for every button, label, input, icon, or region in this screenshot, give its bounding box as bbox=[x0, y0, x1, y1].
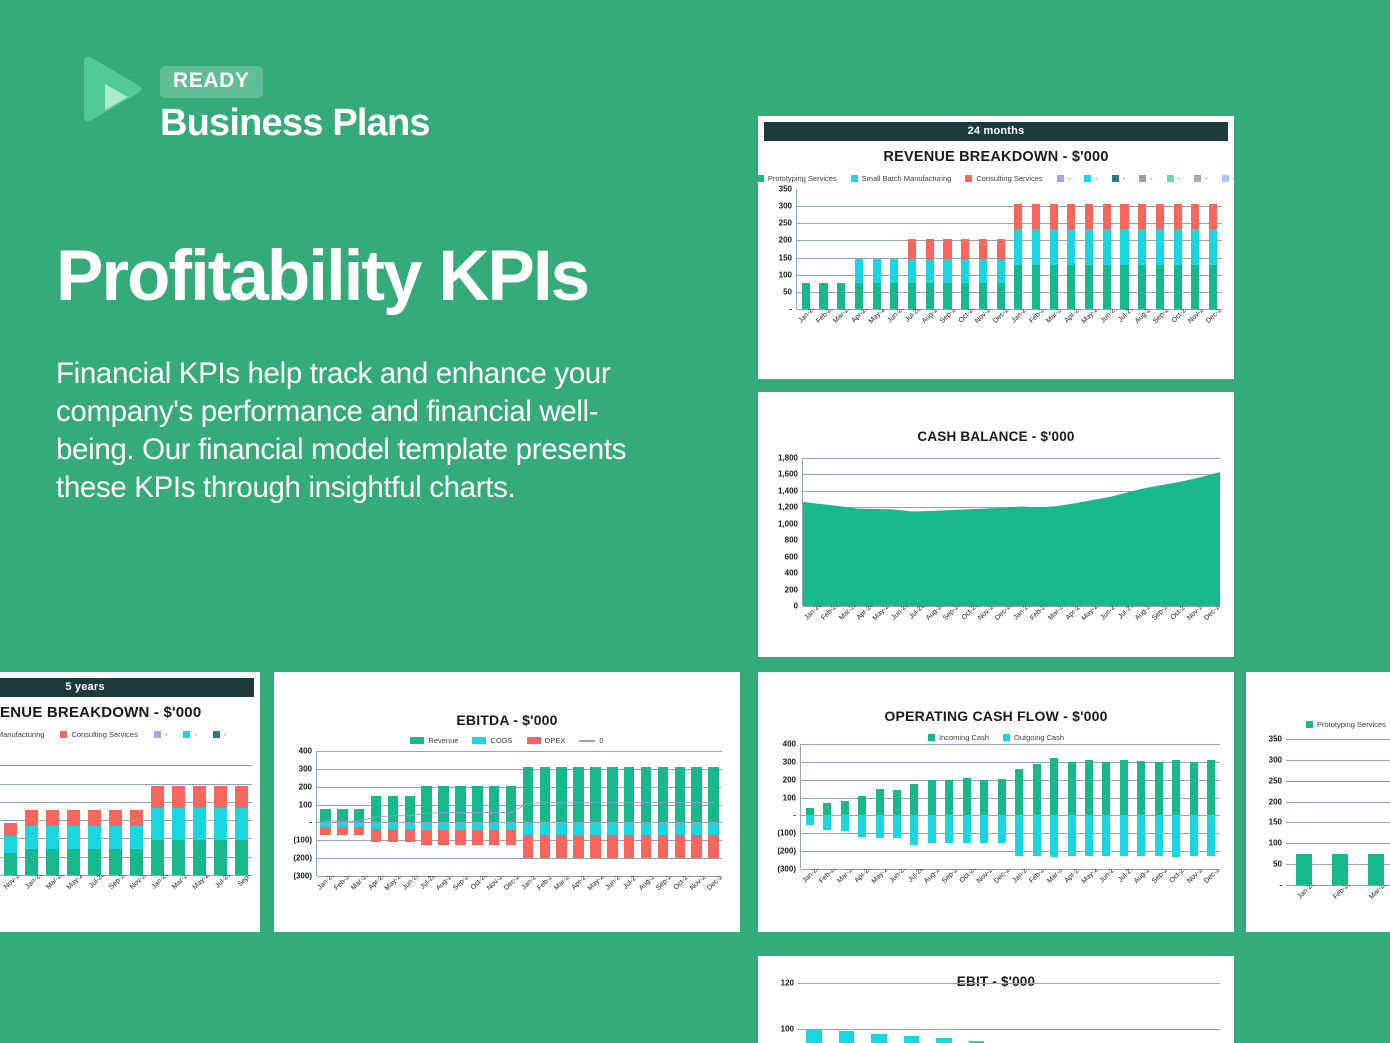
legend-item[interactable]: Small Batch Manufacturing bbox=[851, 174, 952, 183]
bar-segment bbox=[819, 283, 827, 309]
x-tick-slot: Mar-26 bbox=[837, 606, 854, 657]
bar-segment bbox=[963, 815, 971, 843]
bar-slot[interactable] bbox=[1188, 983, 1220, 1043]
x-tick-slot: Mar-26 bbox=[832, 309, 850, 361]
bar[interactable] bbox=[109, 747, 121, 875]
x-tick-slot: Mar-26 bbox=[350, 876, 367, 928]
bar[interactable] bbox=[890, 189, 898, 309]
bar-slot[interactable] bbox=[1116, 189, 1134, 309]
bar-slot[interactable] bbox=[1063, 744, 1080, 869]
legend-item[interactable]: - bbox=[1112, 174, 1126, 183]
bar-slot[interactable] bbox=[836, 744, 853, 869]
bar[interactable] bbox=[1196, 983, 1212, 1043]
page-title: Profitability KPIs bbox=[56, 240, 588, 315]
bar-slot[interactable] bbox=[1058, 983, 1090, 1043]
bar-segment bbox=[109, 810, 121, 826]
bar[interactable] bbox=[25, 747, 37, 875]
bar-segment bbox=[873, 283, 881, 309]
legend-item[interactable]: Consulting Services bbox=[965, 174, 1042, 183]
legend-item[interactable]: Consulting Services bbox=[60, 730, 137, 739]
bar[interactable] bbox=[841, 744, 849, 869]
x-tick-slot: Jan-26 bbox=[1286, 885, 1322, 932]
bar-slot[interactable] bbox=[1090, 983, 1122, 1043]
bar-slot[interactable] bbox=[993, 744, 1010, 869]
bar-slot[interactable] bbox=[1123, 983, 1155, 1043]
bar-slot[interactable] bbox=[1133, 189, 1151, 309]
bar[interactable] bbox=[1102, 744, 1110, 869]
y-tick-label: 100 bbox=[299, 800, 312, 809]
legend-item[interactable]: - bbox=[1194, 174, 1208, 183]
bar[interactable] bbox=[214, 747, 226, 875]
x-tick-slot: Oct-26 bbox=[959, 606, 976, 657]
x-tick-slot: May-28 bbox=[63, 875, 84, 927]
card-revenue-breakdown-5y: 5 years REVENUE BREAKDOWN - $'000 Small … bbox=[0, 672, 260, 932]
bar-slot[interactable] bbox=[1204, 189, 1222, 309]
play-triangle-logo bbox=[74, 52, 146, 126]
x-tick-slot: Apr-26 bbox=[849, 309, 867, 361]
bar[interactable] bbox=[1120, 744, 1128, 869]
bar[interactable] bbox=[1137, 744, 1145, 869]
y-tick-label: 250 bbox=[1269, 776, 1282, 785]
legend-item[interactable]: Outgoing Cash bbox=[1003, 733, 1064, 742]
plot-cash-balance bbox=[802, 458, 1220, 606]
bar[interactable] bbox=[969, 983, 985, 1043]
bar[interactable] bbox=[1296, 739, 1311, 885]
bar-slot[interactable] bbox=[1080, 189, 1098, 309]
legend-item[interactable]: - bbox=[1139, 174, 1153, 183]
bar-slot[interactable] bbox=[1169, 189, 1187, 309]
x-tick-slot: Jun-27 bbox=[1098, 309, 1116, 361]
x-tick-slot: Dec-27 bbox=[705, 876, 722, 928]
bar[interactable] bbox=[1155, 744, 1163, 869]
x-tick-slot: Apr-27 bbox=[1063, 869, 1081, 921]
x-tick-slot: Sep-27 bbox=[1150, 869, 1168, 921]
legend-color-swatch bbox=[1084, 175, 1091, 182]
bar[interactable] bbox=[172, 747, 184, 875]
bar-slot[interactable] bbox=[1098, 189, 1116, 309]
bar-segment bbox=[1137, 761, 1145, 815]
bar[interactable] bbox=[893, 744, 901, 869]
legend-label: OPEX bbox=[545, 736, 566, 745]
bar[interactable] bbox=[873, 189, 881, 309]
bar-segment bbox=[1172, 815, 1180, 856]
bar-slot[interactable] bbox=[1045, 744, 1062, 869]
bar-segment bbox=[130, 826, 142, 849]
bar-segment bbox=[1209, 204, 1217, 229]
bar-slot[interactable] bbox=[21, 747, 42, 875]
bar[interactable] bbox=[1332, 739, 1347, 885]
bar-segment bbox=[998, 815, 1006, 843]
bar-segment bbox=[904, 1036, 920, 1043]
x-tick-slot: May-26 bbox=[384, 876, 401, 928]
x-axis-operating-cash-flow: Jan-26Feb-26Mar-26Apr-26May-26Jun-26Jul-… bbox=[800, 869, 1220, 921]
y-axis-cash-balance: 02004006008001,0001,2001,4001,6001,800 bbox=[758, 458, 802, 606]
legend-color-swatch bbox=[928, 734, 935, 741]
bar[interactable] bbox=[1050, 189, 1058, 309]
bar[interactable] bbox=[945, 744, 953, 869]
bar-slot[interactable] bbox=[1358, 739, 1390, 885]
bar[interactable] bbox=[1190, 744, 1198, 869]
bar[interactable] bbox=[802, 189, 810, 309]
bar-slot[interactable] bbox=[974, 189, 992, 309]
bar-segment bbox=[1120, 204, 1128, 229]
bar-slot[interactable] bbox=[895, 983, 927, 1043]
legend-item[interactable]: - bbox=[1084, 174, 1098, 183]
bar-segment bbox=[945, 815, 953, 843]
bar[interactable] bbox=[1172, 744, 1180, 869]
bar-slot[interactable] bbox=[231, 747, 252, 875]
bar-segment bbox=[1138, 229, 1146, 265]
bar[interactable] bbox=[904, 983, 920, 1043]
bar-slot[interactable] bbox=[941, 744, 958, 869]
bar-slot[interactable] bbox=[42, 747, 63, 875]
bar[interactable] bbox=[235, 747, 247, 875]
legend-item[interactable]: - bbox=[213, 730, 227, 739]
bar-segment bbox=[235, 840, 247, 875]
bar-slot[interactable] bbox=[906, 744, 923, 869]
bar-segment bbox=[1015, 769, 1023, 815]
legend-item[interactable]: Revenue bbox=[410, 736, 458, 745]
bar-slot[interactable] bbox=[871, 744, 888, 869]
bar-segment bbox=[172, 786, 184, 808]
legend-item[interactable]: - bbox=[1167, 174, 1181, 183]
legend-item[interactable]: - bbox=[154, 730, 168, 739]
bar-slot[interactable] bbox=[818, 744, 835, 869]
bar[interactable] bbox=[1138, 189, 1146, 309]
y-tick-label: (100) bbox=[777, 829, 796, 838]
x-tick-label: Jan-29 bbox=[150, 875, 170, 891]
bar-segment bbox=[1209, 265, 1217, 309]
bar[interactable] bbox=[936, 983, 952, 1043]
bar-slot[interactable] bbox=[939, 189, 957, 309]
bar[interactable] bbox=[1001, 983, 1017, 1043]
x-tick-slot: Dec-27 bbox=[1204, 309, 1222, 361]
bar-slot[interactable] bbox=[992, 189, 1010, 309]
x-tick-slot: Sep-26 bbox=[941, 606, 958, 657]
bar-segment bbox=[1103, 229, 1111, 265]
bar-slot[interactable] bbox=[1009, 189, 1027, 309]
bar[interactable] bbox=[1368, 739, 1383, 885]
x-tick-slot: Jun-26 bbox=[888, 869, 906, 921]
page-description: Financial KPIs help track and enhance yo… bbox=[56, 355, 656, 507]
legend-item[interactable]: - bbox=[183, 730, 197, 739]
x-tick-slot: Jan-27 bbox=[1010, 869, 1028, 921]
bar[interactable] bbox=[1085, 744, 1093, 869]
bar-slot[interactable] bbox=[976, 744, 993, 869]
bar-slot[interactable] bbox=[993, 983, 1025, 1043]
bar[interactable] bbox=[928, 744, 936, 869]
bar[interactable] bbox=[963, 744, 971, 869]
bar-slot[interactable] bbox=[126, 747, 147, 875]
bar[interactable] bbox=[998, 744, 1006, 869]
bar-slot[interactable] bbox=[1322, 739, 1358, 885]
bar[interactable] bbox=[193, 747, 205, 875]
bar-segment bbox=[1207, 760, 1215, 815]
bar-slot[interactable] bbox=[956, 189, 974, 309]
bar-segment bbox=[4, 836, 16, 854]
x-tick-slot: Oct-26 bbox=[958, 869, 976, 921]
legend-item[interactable]: OPEX bbox=[527, 736, 566, 745]
bar[interactable] bbox=[1207, 744, 1215, 869]
bar[interactable] bbox=[1050, 744, 1058, 869]
x-tick-slot: Apr-26 bbox=[853, 869, 871, 921]
bar-segment bbox=[873, 259, 881, 283]
x-tick-slot: Dec-26 bbox=[502, 876, 519, 928]
bar-segment bbox=[1103, 265, 1111, 309]
y-tick-label: 400 bbox=[299, 747, 312, 756]
bar[interactable] bbox=[910, 744, 918, 869]
y-tick-label: 200 bbox=[299, 782, 312, 791]
x-tick-slot: Sep-27 bbox=[654, 876, 671, 928]
bar-slot[interactable] bbox=[1115, 744, 1132, 869]
bar[interactable] bbox=[979, 189, 987, 309]
bar-slot[interactable] bbox=[1025, 983, 1057, 1043]
bar-slot[interactable] bbox=[815, 189, 833, 309]
card-revenue-breakdown-24m: 24 months REVENUE BREAKDOWN - $'000 Prot… bbox=[758, 116, 1234, 379]
bar-slot[interactable] bbox=[903, 189, 921, 309]
bar-slot[interactable] bbox=[1151, 189, 1169, 309]
bar[interactable] bbox=[961, 189, 969, 309]
bar-slot[interactable] bbox=[1027, 189, 1045, 309]
legend-line-marker bbox=[579, 740, 595, 742]
bar-slot[interactable] bbox=[1155, 983, 1187, 1043]
x-tick-slot: Jan-27 bbox=[519, 876, 536, 928]
bar-slot[interactable] bbox=[1063, 189, 1081, 309]
bar[interactable] bbox=[1164, 983, 1180, 1043]
bar-slot[interactable] bbox=[853, 744, 870, 869]
bar[interactable] bbox=[46, 747, 58, 875]
chart-legend-revenue-breakdown-24m: Prototyping ServicesSmall Batch Manufact… bbox=[758, 174, 1234, 183]
x-tick-slot: Feb-27 bbox=[1028, 606, 1045, 657]
bar[interactable] bbox=[1033, 744, 1041, 869]
bar-slot[interactable] bbox=[1080, 744, 1097, 869]
bar-slot[interactable] bbox=[798, 983, 830, 1043]
bar[interactable] bbox=[1068, 744, 1076, 869]
bar-segment bbox=[1050, 758, 1058, 816]
bar[interactable] bbox=[1015, 744, 1023, 869]
bar[interactable] bbox=[1034, 983, 1050, 1043]
x-tick-slot: Feb-26 bbox=[814, 309, 832, 361]
bar-segment bbox=[1296, 854, 1311, 885]
bar-segment bbox=[214, 786, 226, 808]
sheet-label-24-months: 24 months bbox=[764, 122, 1228, 141]
bar-segment bbox=[1050, 265, 1058, 309]
x-tick-slot: Sep-26 bbox=[451, 876, 468, 928]
legend-item[interactable]: - bbox=[1222, 174, 1234, 183]
bar-segment bbox=[943, 283, 951, 309]
bar[interactable] bbox=[837, 189, 845, 309]
bar[interactable] bbox=[980, 744, 988, 869]
bar[interactable] bbox=[908, 189, 916, 309]
bar-slot[interactable] bbox=[63, 747, 84, 875]
x-tick-slot: Feb-27 bbox=[1027, 309, 1045, 361]
legend-item[interactable]: 0 bbox=[579, 736, 603, 745]
bar[interactable] bbox=[823, 744, 831, 869]
legend-item[interactable]: Prototyping Services bbox=[758, 174, 837, 183]
bar-segment bbox=[88, 826, 100, 849]
bar-slot[interactable] bbox=[168, 747, 189, 875]
y-axis-operating-cash-flow: (300)(200)(100)-100200300400 bbox=[758, 744, 800, 869]
x-tick-slot: Jun-27 bbox=[1098, 606, 1115, 657]
bar-segment bbox=[1138, 265, 1146, 309]
x-tick-slot: May-29 bbox=[189, 875, 210, 927]
bar-segment bbox=[151, 786, 163, 808]
bar[interactable] bbox=[130, 747, 142, 875]
bar[interactable] bbox=[88, 747, 100, 875]
bar[interactable] bbox=[1066, 983, 1082, 1043]
bar-slot[interactable] bbox=[84, 747, 105, 875]
bar-slot[interactable] bbox=[958, 744, 975, 869]
legend-item[interactable]: Prototyping Services bbox=[1306, 720, 1386, 729]
bar-slot[interactable] bbox=[850, 189, 868, 309]
bar[interactable] bbox=[1085, 189, 1093, 309]
bar-segment bbox=[1155, 762, 1163, 816]
bar-slot[interactable] bbox=[830, 983, 862, 1043]
bar[interactable] bbox=[806, 744, 814, 869]
bar-segment bbox=[910, 784, 918, 816]
legend-label: COGS bbox=[490, 736, 512, 745]
bar-slot[interactable] bbox=[886, 189, 904, 309]
bar[interactable] bbox=[819, 189, 827, 309]
chart-title-ebitda: EBITDA - $'000 bbox=[274, 712, 740, 728]
legend-item[interactable]: COGS bbox=[472, 736, 512, 745]
bar-slot[interactable] bbox=[1202, 744, 1219, 869]
bar-slot[interactable] bbox=[832, 189, 850, 309]
bar-slot[interactable] bbox=[797, 189, 815, 309]
bar[interactable] bbox=[1174, 189, 1182, 309]
bar-slot[interactable] bbox=[1028, 744, 1045, 869]
bar-slot[interactable] bbox=[1133, 744, 1150, 869]
bar[interactable] bbox=[67, 747, 79, 875]
y-tick-label: 200 bbox=[1269, 797, 1282, 806]
legend-label: - bbox=[1123, 174, 1126, 183]
bar[interactable] bbox=[1103, 189, 1111, 309]
legend-label: - bbox=[1233, 174, 1234, 183]
bar-segment bbox=[67, 810, 79, 826]
bar-segment bbox=[961, 259, 969, 283]
bar[interactable] bbox=[871, 983, 887, 1043]
x-tick-slot: May-26 bbox=[872, 606, 889, 657]
x-tick-slot: Feb-26 bbox=[819, 606, 836, 657]
bar-slot[interactable] bbox=[868, 189, 886, 309]
bar-segment bbox=[1191, 265, 1199, 309]
legend-color-swatch bbox=[1194, 175, 1201, 182]
bar-segment bbox=[926, 259, 934, 283]
chart-legend-revenue-breakdown-5y: Small Batch ManufacturingConsulting Serv… bbox=[0, 730, 260, 739]
bar-slot[interactable] bbox=[921, 189, 939, 309]
bar-segment bbox=[1014, 204, 1022, 229]
bar[interactable] bbox=[839, 983, 855, 1043]
bar[interactable] bbox=[997, 189, 1005, 309]
bar-segment bbox=[109, 849, 121, 875]
legend-item[interactable]: Incoming Cash bbox=[928, 733, 989, 742]
bar-slot[interactable] bbox=[923, 744, 940, 869]
bar-segment bbox=[1085, 815, 1093, 856]
bar-segment bbox=[806, 808, 814, 816]
bar[interactable] bbox=[1191, 189, 1199, 309]
bar[interactable] bbox=[926, 189, 934, 309]
bar[interactable] bbox=[1014, 189, 1022, 309]
bar[interactable] bbox=[1032, 189, 1040, 309]
bar[interactable] bbox=[1131, 983, 1147, 1043]
bar[interactable] bbox=[858, 744, 866, 869]
bar[interactable] bbox=[151, 747, 163, 875]
bar-segment bbox=[1138, 204, 1146, 229]
bar-slot[interactable] bbox=[1150, 744, 1167, 869]
x-tick-slot: Jul-27 bbox=[1115, 869, 1133, 921]
bar-segment bbox=[998, 779, 1006, 816]
bar-segment bbox=[910, 815, 918, 844]
bar-slot[interactable] bbox=[1098, 744, 1115, 869]
bar-segment bbox=[4, 823, 16, 835]
bar[interactable] bbox=[806, 983, 822, 1043]
y-tick-label: 300 bbox=[299, 764, 312, 773]
bar-slot[interactable] bbox=[928, 983, 960, 1043]
bar-slot[interactable] bbox=[1185, 744, 1202, 869]
legend-label: Consulting Services bbox=[71, 730, 137, 739]
x-tick-slot: Oct-27 bbox=[1168, 606, 1185, 657]
bar[interactable] bbox=[1209, 189, 1217, 309]
x-tick-slot: Aug-27 bbox=[1133, 869, 1151, 921]
bar-slot[interactable] bbox=[1010, 744, 1027, 869]
bar-slot[interactable] bbox=[210, 747, 231, 875]
legend-item[interactable]: Small Batch Manufacturing bbox=[0, 730, 44, 739]
bar-slot[interactable] bbox=[1286, 739, 1322, 885]
y-axis-ebit: 80100120 bbox=[758, 983, 798, 1043]
bar-slot[interactable] bbox=[863, 983, 895, 1043]
bar-slot[interactable] bbox=[960, 983, 992, 1043]
bar-segment bbox=[235, 808, 247, 840]
bar-segment bbox=[1050, 204, 1058, 229]
legend-item[interactable]: - bbox=[1057, 174, 1071, 183]
bar-slot[interactable] bbox=[1045, 189, 1063, 309]
bar[interactable] bbox=[1099, 983, 1115, 1043]
bar[interactable] bbox=[876, 744, 884, 869]
bar[interactable] bbox=[943, 189, 951, 309]
legend-color-swatch bbox=[851, 175, 858, 182]
y-tick-label: 200 bbox=[779, 236, 792, 245]
bar[interactable] bbox=[1120, 189, 1128, 309]
bar-segment bbox=[806, 1029, 822, 1043]
bar-segment bbox=[214, 840, 226, 875]
bar[interactable] bbox=[855, 189, 863, 309]
y-tick-label: (300) bbox=[293, 872, 312, 881]
bar[interactable] bbox=[1156, 189, 1164, 309]
bar-segment bbox=[1156, 229, 1164, 265]
x-tick-label: Dec-27 bbox=[1203, 869, 1220, 885]
bar-slot[interactable] bbox=[1186, 189, 1204, 309]
y-tick-label: - bbox=[793, 811, 796, 820]
x-tick-slot: Jul-26 bbox=[907, 606, 924, 657]
bar-slot[interactable] bbox=[0, 747, 21, 875]
bar-slot[interactable] bbox=[888, 744, 905, 869]
brand-lockup: READY Business Plans bbox=[74, 52, 430, 145]
bar-slot[interactable] bbox=[147, 747, 168, 875]
bar-slot[interactable] bbox=[801, 744, 818, 869]
bar-slot[interactable] bbox=[105, 747, 126, 875]
x-tick-slot: Nov-27 bbox=[688, 876, 705, 928]
bar[interactable] bbox=[1067, 189, 1075, 309]
bar[interactable] bbox=[4, 747, 16, 875]
bar-slot[interactable] bbox=[189, 747, 210, 875]
bar-slot[interactable] bbox=[1168, 744, 1185, 869]
y-tick-label: (200) bbox=[293, 854, 312, 863]
bar-segment bbox=[1156, 204, 1164, 229]
bar-segment bbox=[890, 283, 898, 309]
x-tick-slot: Feb-26 bbox=[818, 869, 836, 921]
legend-color-swatch bbox=[213, 731, 220, 738]
x-tick-slot: Apr-26 bbox=[367, 876, 384, 928]
